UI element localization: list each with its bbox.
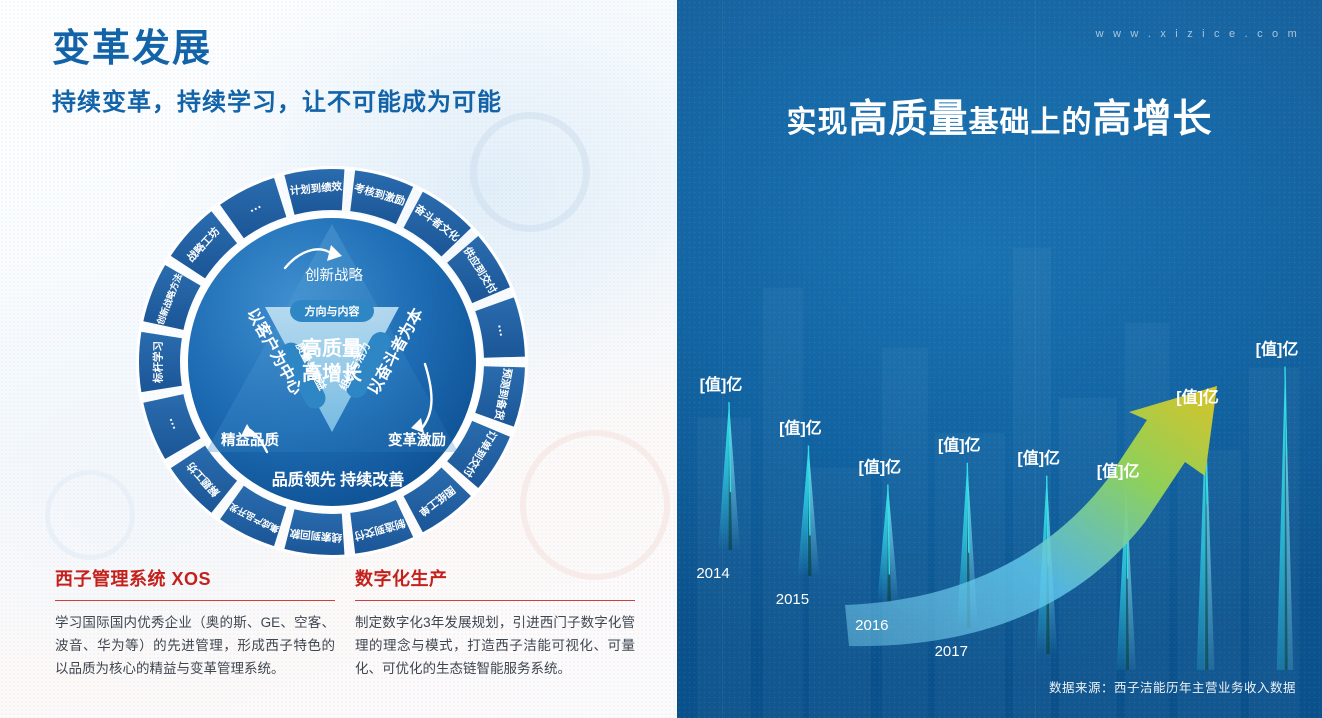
page-subtitle: 持续变革，持续学习，让不可能成为可能 <box>52 82 502 117</box>
spike-value-label: [值]亿 <box>700 375 743 394</box>
growth-arrow <box>845 386 1217 646</box>
chart-title-part2: 高质量 <box>848 98 968 141</box>
slide-root: 变革发展 持续变革，持续学习，让不可能成为可能 <box>0 0 1322 718</box>
title-block: 变革发展 持续变革，持续学习，让不可能成为可能 <box>52 28 502 117</box>
spike-value-label: [值]亿 <box>1256 340 1299 359</box>
side-bottom-label: 品质领先 持续改善 <box>272 470 404 489</box>
chart-title-part1: 实现 <box>786 106 848 139</box>
xos-circle-diagram: 创新战略方法战略工坊…计划到绩效考核到激励奋斗者文化供应到交付…预测到备货订单到… <box>122 152 542 572</box>
spike-value-label: [值]亿 <box>859 458 902 477</box>
vertex-top-label: 创新战略 <box>305 267 363 284</box>
decorative-circle <box>520 430 670 580</box>
chart-title: 实现高质量基础上的高增长 <box>677 88 1322 144</box>
right-panel: w w w . x i z i c e . c o m 实现高质量基础上的高增长 <box>677 0 1322 718</box>
spike-value-label: [值]亿 <box>1017 449 1060 468</box>
center-line-2: 高增长 <box>302 361 363 385</box>
column-body: 学习国际国内优秀企业（奥的斯、GE、空客、波音、华为等）的先进管理，形成西子特色… <box>55 611 335 681</box>
year-label[interactable]: 2018 <box>1014 669 1047 670</box>
site-url: w w w . x i z i c e . c o m <box>1096 28 1300 40</box>
center-line-1: 高质量 <box>302 336 362 360</box>
spike-value-label: [值]亿 <box>1097 462 1140 481</box>
revenue-spike-chart: [值]亿[值]亿[值]亿[值]亿[值]亿[值]亿[值]亿[值]亿 2014201… <box>677 150 1322 670</box>
ring-segment-label: 标杆学习 <box>151 341 164 384</box>
year-label[interactable]: 2016 <box>855 617 888 634</box>
page-title: 变革发展 <box>52 28 502 72</box>
column-body: 制定数字化3年发展规划，引进西门子数字化管理的理念与模式，打造西子洁能可视化、可… <box>355 611 635 681</box>
year-label[interactable]: 2017 <box>935 643 968 660</box>
column-heading: 西子管理系统 XOS <box>55 565 335 600</box>
spike-value-label: [值]亿 <box>779 419 822 438</box>
year-label[interactable]: 2014 <box>696 565 729 582</box>
chart-title-part4: 高增长 <box>1093 98 1213 141</box>
spike-value-label: [值]亿 <box>1176 388 1219 407</box>
divider <box>55 600 335 601</box>
left-panel: 变革发展 持续变革，持续学习，让不可能成为可能 <box>0 0 677 718</box>
divider <box>355 600 635 601</box>
pill-top-label: 方向与内容 <box>305 304 360 318</box>
info-column-digital: 数字化生产 制定数字化3年发展规划，引进西门子数字化管理的理念与模式，打造西子洁… <box>355 565 635 681</box>
column-heading: 数字化生产 <box>355 565 635 600</box>
info-column-xos: 西子管理系统 XOS 学习国际国内优秀企业（奥的斯、GE、空客、波音、华为等）的… <box>55 565 335 681</box>
chart-title-part3: 基础上的 <box>969 106 1093 139</box>
vertex-right-label: 变革激励 <box>388 431 446 449</box>
ring-segment-label: … <box>495 322 512 338</box>
spike-value-label: [值]亿 <box>938 436 981 455</box>
year-label[interactable]: 2015 <box>776 591 809 608</box>
source-note: 数据来源：西子洁能历年主营业务收入数据 <box>1049 677 1296 696</box>
